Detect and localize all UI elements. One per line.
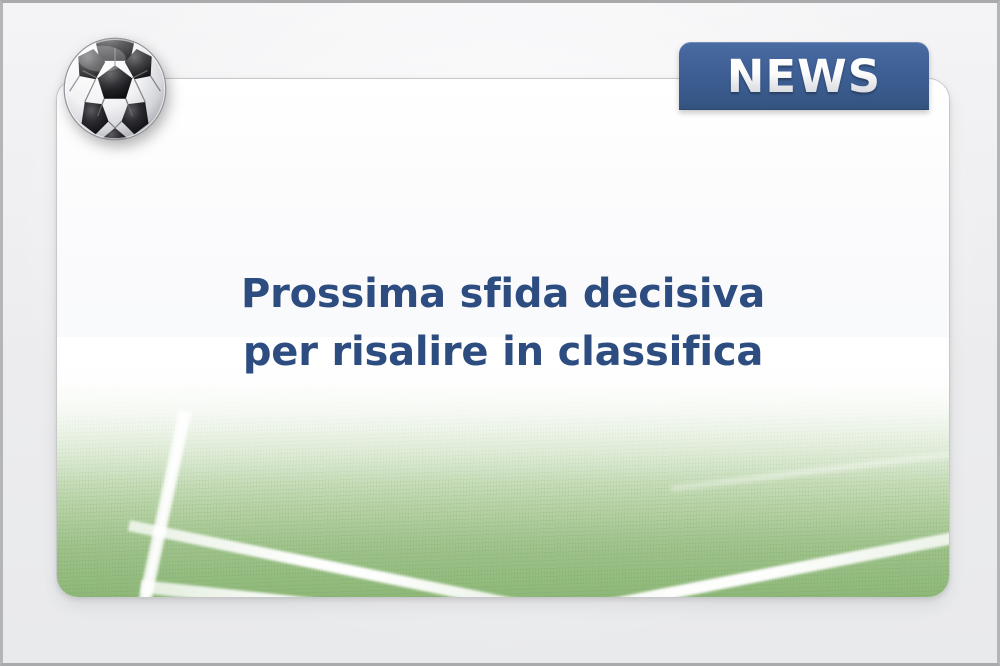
headline-line-1: Prossima sfida decisiva: [57, 265, 949, 323]
soccer-ball-icon: [61, 35, 169, 143]
news-banner[interactable]: NEWS: [679, 42, 929, 110]
headline-line-2: per risalire in classifica: [57, 323, 949, 381]
page-frame: Prossima sfida decisiva per risalire in …: [0, 0, 1000, 666]
headline: Prossima sfida decisiva per risalire in …: [57, 265, 949, 381]
news-banner-label: NEWS: [727, 54, 881, 99]
news-card: Prossima sfida decisiva per risalire in …: [56, 78, 950, 598]
